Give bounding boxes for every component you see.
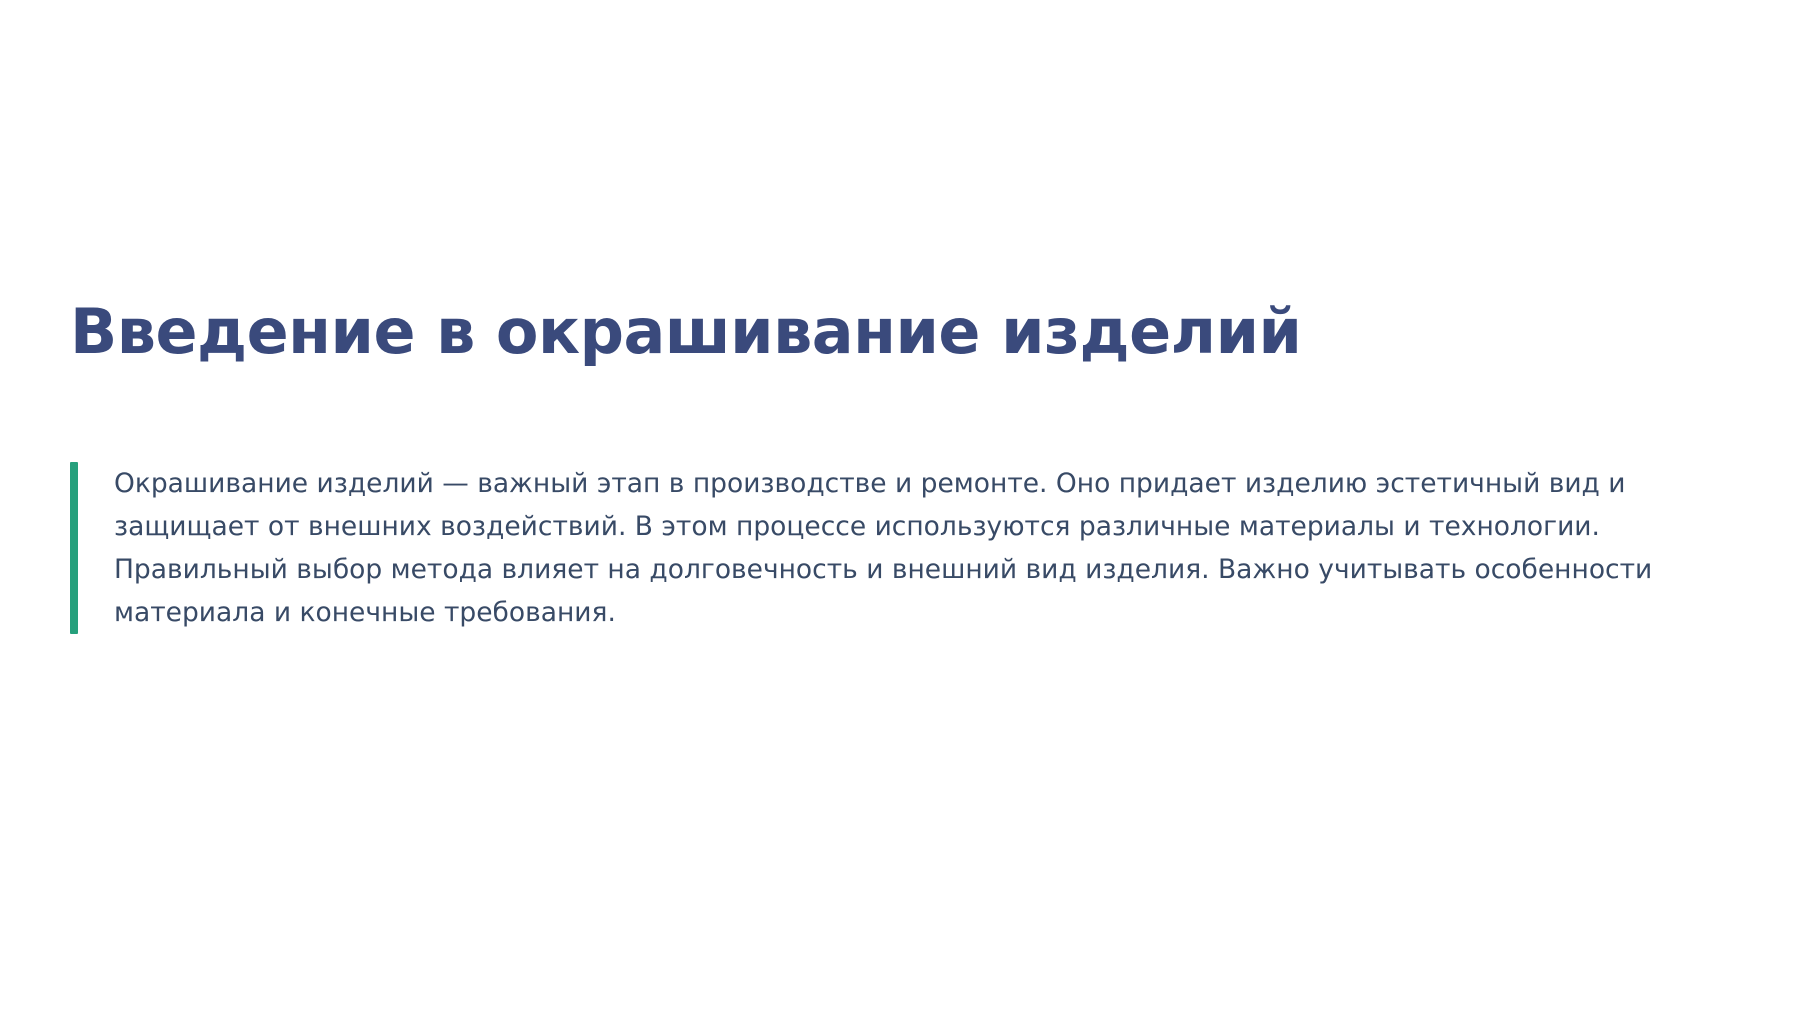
intro-paragraph: Окрашивание изделий — важный этап в прои… — [78, 462, 1730, 634]
intro-block: Окрашивание изделий — важный этап в прои… — [70, 462, 1730, 634]
slide-canvas: Введение в окрашивание изделий Окрашиван… — [0, 0, 1800, 1013]
accent-bar — [70, 462, 78, 634]
page-title: Введение в окрашивание изделий — [70, 296, 1730, 367]
